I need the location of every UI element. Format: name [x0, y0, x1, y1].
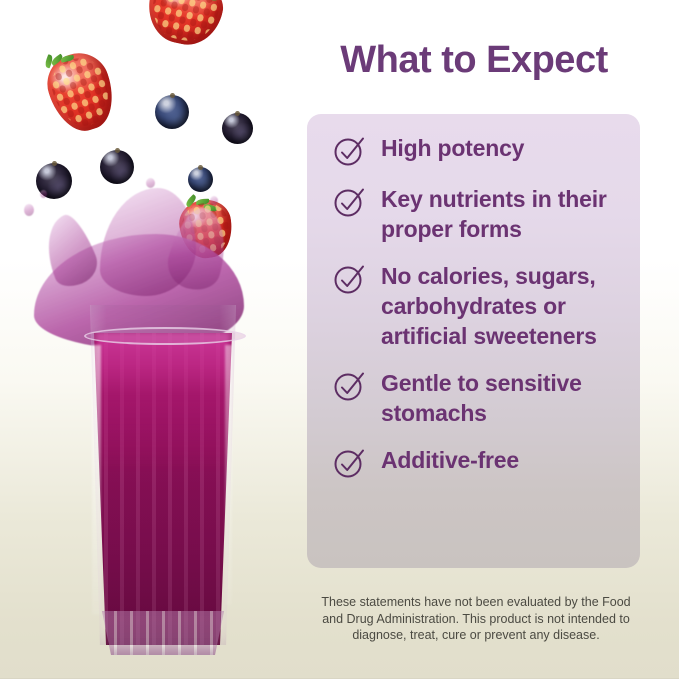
- leaf-icon: [61, 55, 75, 63]
- splash-droplet: [24, 204, 34, 216]
- berry-crown-icon: [115, 148, 120, 153]
- glass-rim: [84, 327, 246, 345]
- splash-droplet: [146, 178, 155, 188]
- list-item: No calories, sugars, carbohydrates or ar…: [333, 260, 620, 351]
- benefits-card: High potency Key nutrients in their prop…: [307, 114, 640, 568]
- check-circle-icon: [333, 368, 367, 402]
- list-item-label: Key nutrients in their proper forms: [381, 183, 607, 244]
- page-title: What to Expect: [307, 40, 641, 82]
- berry-crown-icon: [170, 93, 175, 98]
- drink-glass: [72, 305, 254, 655]
- list-item: Gentle to sensitive stomachs: [333, 367, 620, 428]
- juice-fill: [88, 333, 238, 645]
- list-item: Key nutrients in their proper forms: [333, 183, 620, 244]
- list-item-label: High potency: [381, 132, 524, 163]
- fda-disclaimer: These statements have not been evaluated…: [288, 594, 664, 644]
- splash-droplet: [210, 196, 218, 205]
- leaf-icon: [205, 0, 219, 2]
- list-item-label: No calories, sugars, carbohydrates or ar…: [381, 260, 597, 351]
- strawberry-left-icon: [39, 45, 122, 138]
- product-imagery: [0, 0, 300, 679]
- infographic-page: What to Expect High potency Key nutrient…: [0, 0, 679, 679]
- berry-crown-icon: [52, 161, 57, 166]
- list-item-label: Gentle to sensitive stomachs: [381, 367, 582, 428]
- glass-base: [98, 611, 228, 655]
- berry-crown-icon: [235, 111, 240, 116]
- splash-droplet: [40, 190, 47, 198]
- glass-highlight-right: [225, 345, 232, 605]
- check-circle-icon: [333, 133, 367, 167]
- blueberry-dark-right-icon: [222, 113, 253, 144]
- strawberry-top-icon: [142, 0, 228, 51]
- list-item-label: Additive-free: [381, 444, 519, 475]
- list-item: Additive-free: [333, 444, 620, 479]
- check-circle-icon: [333, 184, 367, 218]
- blueberry-mid-icon: [155, 95, 189, 129]
- list-item: High potency: [333, 132, 620, 167]
- check-circle-icon: [333, 261, 367, 295]
- glass-highlight-left: [92, 345, 101, 615]
- check-circle-icon: [333, 445, 367, 479]
